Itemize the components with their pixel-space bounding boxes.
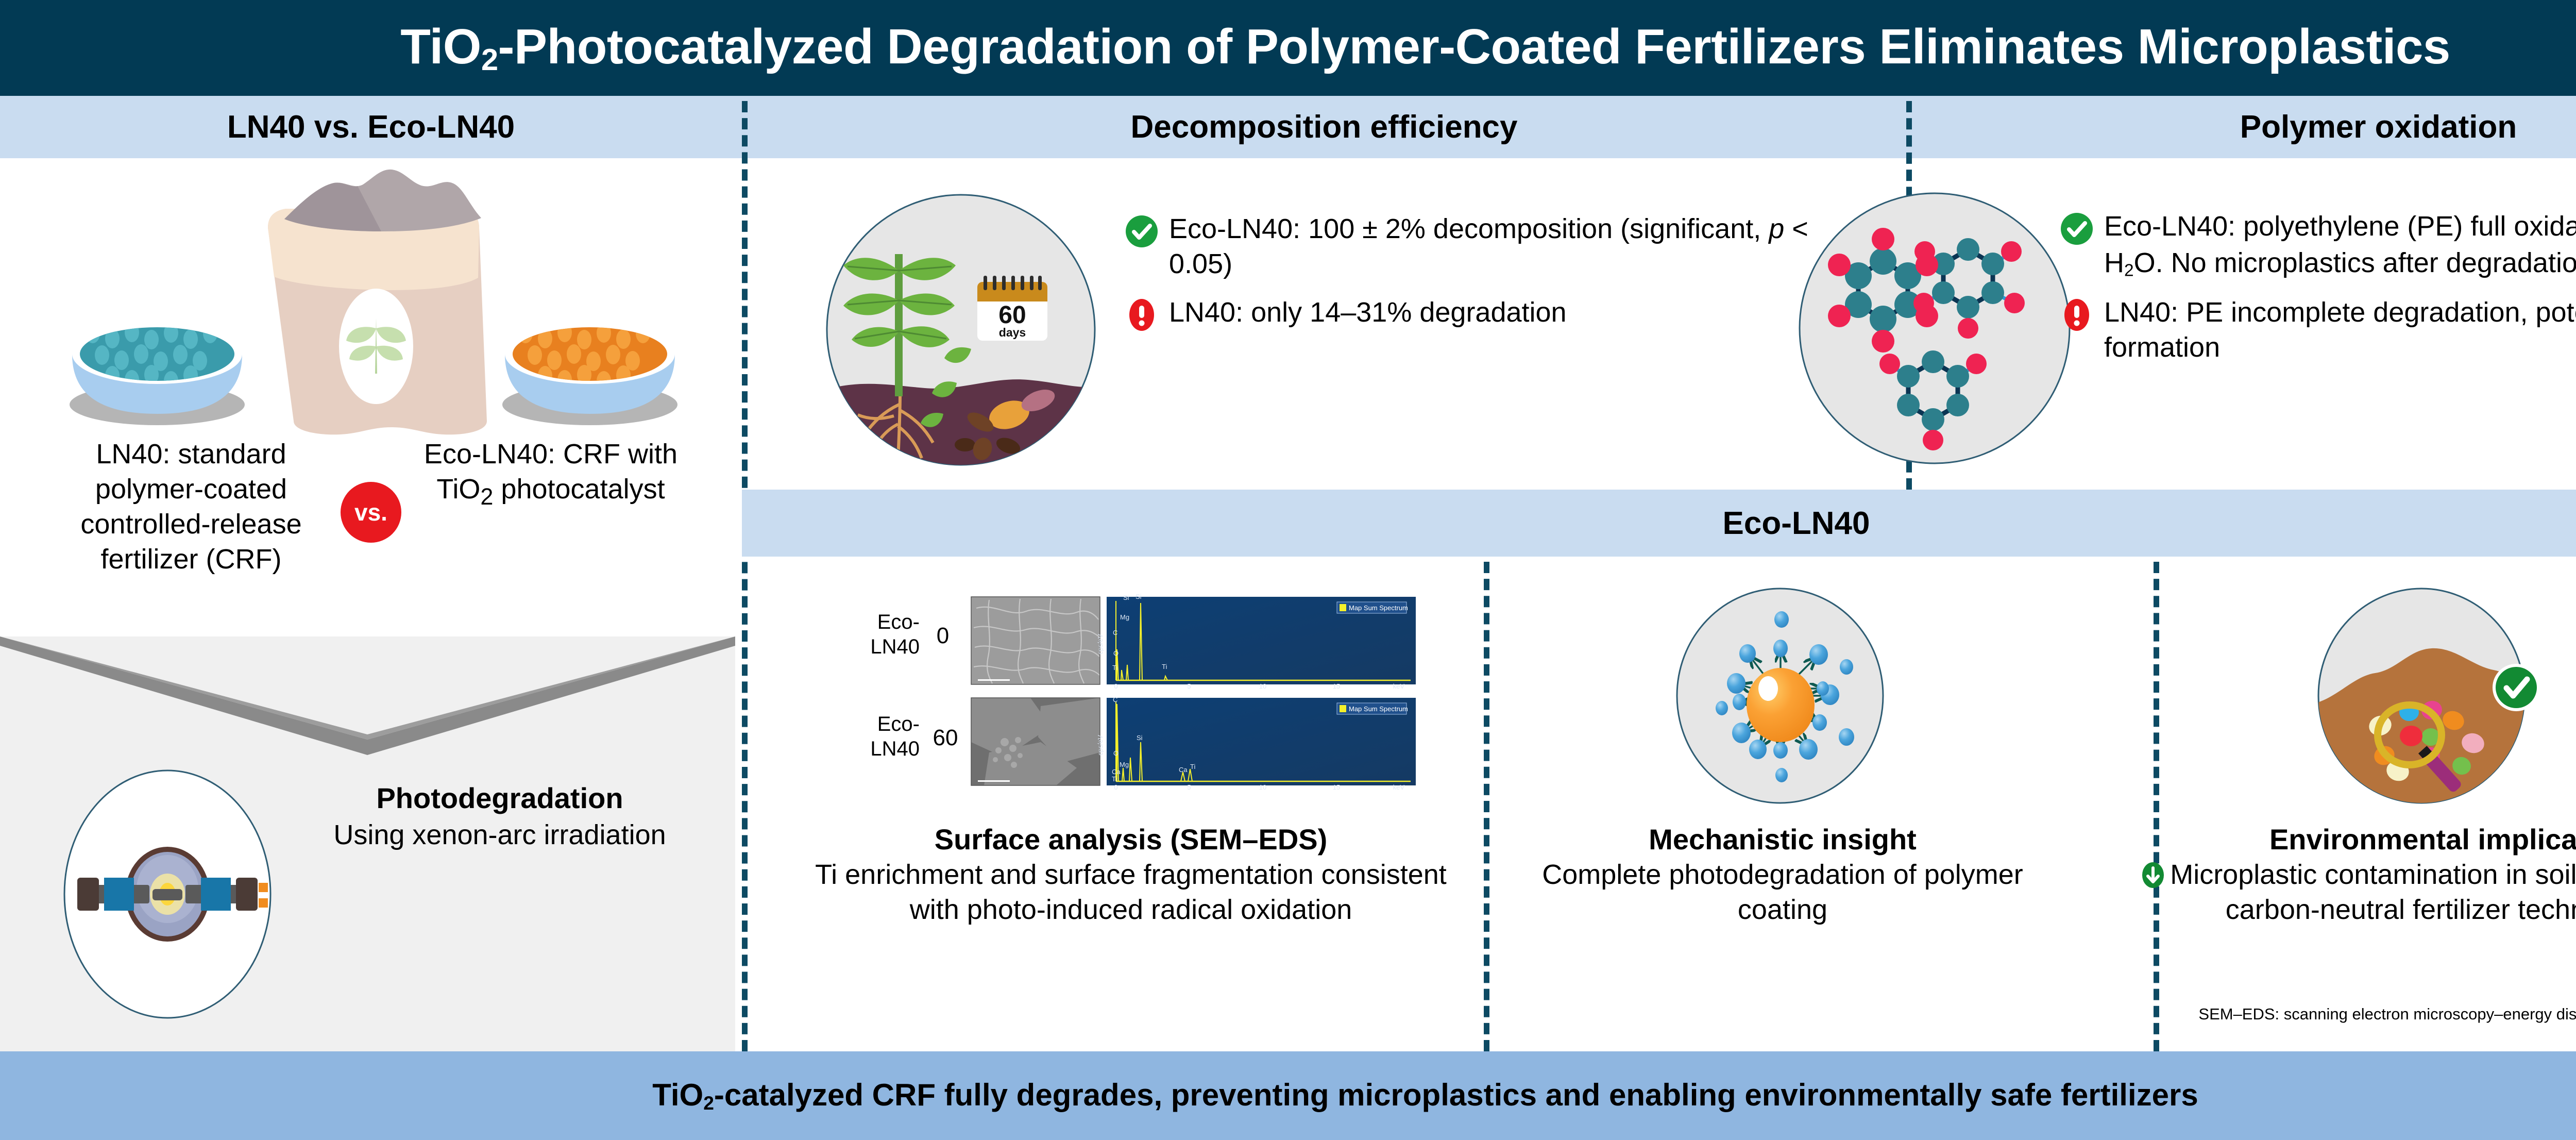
banner-sub: 2 (703, 1092, 714, 1114)
ox-b1-post: O. No microplastics after degradation (2134, 247, 2576, 278)
environmental-caption: Environmental implication Microplastic c… (2107, 822, 2576, 927)
down-arrow-circle-icon (2140, 861, 2166, 887)
svg-text:Si: Si (1123, 594, 1129, 601)
svg-text:cps/eV: cps/eV (1096, 735, 1104, 756)
calendar-icon: 60 days (977, 276, 1047, 341)
bullet-text: Eco-LN40: 100 ± 2% decomposition (signif… (1169, 211, 1862, 281)
svg-text:15: 15 (1333, 682, 1340, 690)
eco-desc-sub: 2 (480, 483, 493, 510)
check-badge-icon (2493, 664, 2540, 711)
svg-text:Ti: Ti (1112, 664, 1117, 672)
svg-text:keV: keV (1393, 682, 1405, 690)
alert-circle-icon (1126, 299, 1158, 331)
svg-text:C: C (1113, 629, 1117, 636)
svg-text:C: C (1113, 696, 1117, 703)
footnote: SEM–EDS: scanning electron microscopy–en… (2107, 1005, 2576, 1024)
svg-text:0: 0 (1114, 682, 1117, 690)
eco-band-label: Eco-LN40 (1723, 505, 1870, 542)
bullet-ln40-decomposition: LN40: only 14–31% degradation (1126, 295, 1862, 331)
header-decomposition-efficiency: Decomposition efficiency (742, 96, 1906, 158)
title-banner: TiO2-Photocatalyzed Degradation of Polym… (0, 0, 2576, 96)
left-column: LN40: standard polymer-coated controlled… (0, 158, 742, 1051)
bullet-eco-oxidation: Eco-LN40: polyethylene (PE) full oxidati… (2061, 209, 2576, 281)
svg-text:Ti: Ti (1162, 663, 1167, 670)
sem-caption-body: Ti enrichment and surface fragmentation … (788, 857, 1473, 927)
svg-text:5: 5 (1187, 682, 1191, 690)
eco-ln40-band: Eco-LN40 (742, 490, 2576, 557)
dec-b1-pre: Eco-LN40: 100 ± 2% decomposition (signif… (1169, 213, 1769, 244)
vs-badge: vs. (341, 482, 401, 543)
svg-text:Map Sum Spectrum: Map Sum Spectrum (1349, 705, 1408, 713)
xenon-lamp-illustration (57, 765, 278, 1023)
chevron-down-icon (0, 636, 735, 755)
svg-text:Ti: Ti (1190, 763, 1195, 770)
banner-post: -catalyzed CRF fully degrades, preventin… (714, 1078, 2198, 1112)
oxidation-bullets: Eco-LN40: polyethylene (PE) full oxidati… (2061, 209, 2576, 378)
divider-left (742, 101, 748, 1051)
title-pre: TiO (400, 19, 481, 74)
eco-desc-post: photocatalyst (493, 474, 665, 505)
alert-circle-icon (2061, 299, 2093, 331)
sem-caption: Surface analysis (SEM–EDS) Ti enrichment… (788, 822, 1473, 927)
svg-text:O: O (1113, 649, 1118, 657)
svg-text:cps/eV: cps/eV (1096, 634, 1104, 655)
bottom-banner: TiO2-catalyzed CRF fully degrades, preve… (0, 1051, 2576, 1140)
mechanistic-caption-title: Mechanistic insight (1494, 822, 2071, 857)
svg-text:60: 60 (998, 301, 1026, 329)
environmental-caption-text: Microplastic contamination in soils and … (2170, 859, 2576, 925)
ox-b1-sub2: 2 (2124, 261, 2134, 280)
decomposition-bullets: Eco-LN40: 100 ± 2% decomposition (signif… (1126, 211, 1862, 344)
svg-text:LN40: LN40 (870, 737, 920, 760)
mechanistic-caption: Mechanistic insight Complete photodegrad… (1494, 822, 2071, 927)
header-ln40-vs-eco: LN40 vs. Eco-LN40 (0, 96, 742, 158)
fertilizer-illustration (52, 163, 696, 442)
decomposition-illustration: 60 days (817, 193, 1136, 466)
graphical-abstract: TiO2-Photocatalyzed Degradation of Polym… (0, 0, 2576, 1140)
svg-text:Mg: Mg (1120, 761, 1129, 768)
svg-text:Si: Si (1136, 593, 1142, 600)
check-circle-icon (1126, 215, 1158, 247)
sem-caption-title: Surface analysis (SEM–EDS) (788, 822, 1473, 857)
title-sub: 2 (481, 42, 498, 77)
mechanistic-illustration (1659, 588, 1901, 804)
svg-text:Ca: Ca (1112, 768, 1121, 776)
svg-text:0: 0 (937, 623, 949, 648)
bottom-banner-text: TiO2-catalyzed CRF fully degrades, preve… (652, 1077, 2198, 1114)
photodegradation-panel: Photodegradation Using xenon-arc irradia… (0, 636, 735, 1051)
svg-text:Si: Si (1137, 734, 1143, 742)
bullet-text: LN40: only 14–31% degradation (1169, 295, 1567, 330)
ln40-description: LN40: standard polymer-coated controlled… (47, 437, 335, 577)
bullet-text: LN40: PE incomplete degradation, potenti… (2104, 295, 2576, 365)
divider-row2-a (1484, 562, 1489, 1051)
check-circle-icon (2061, 213, 2093, 245)
svg-text:Eco-: Eco- (877, 713, 920, 735)
svg-text:60: 60 (933, 725, 958, 750)
eco-ln40-description: Eco-LN40: CRF with TiO2 photocatalyst (406, 437, 695, 512)
bullet-text: Eco-LN40: polyethylene (PE) full oxidati… (2104, 209, 2576, 281)
svg-text:15: 15 (1333, 783, 1340, 791)
header-polymer-oxidation: Polymer oxidation (1906, 96, 2576, 158)
bullet-eco-decomposition: Eco-LN40: 100 ± 2% decomposition (signif… (1126, 211, 1862, 281)
svg-text:days: days (999, 326, 1026, 339)
photodegradation-subtitle: Using xenon-arc irradiation (289, 817, 711, 852)
svg-text:10: 10 (1259, 682, 1266, 690)
environmental-caption-title: Environmental implication (2107, 822, 2576, 857)
svg-text:Mg: Mg (1120, 613, 1129, 621)
mechanistic-caption-body: Complete photodegradation of polymer coa… (1494, 857, 2071, 927)
svg-text:5: 5 (1187, 783, 1191, 791)
ox-b1-pre: Eco-LN40: polyethylene (PE) full oxidati… (2104, 211, 2576, 242)
title-post: -Photocatalyzed Degradation of Polymer-C… (498, 19, 2450, 74)
svg-text:Ti: Ti (1112, 775, 1117, 783)
environmental-illustration (2308, 588, 2555, 804)
svg-text:Map Sum Spectrum: Map Sum Spectrum (1349, 604, 1408, 612)
divider-row2-b (2154, 562, 2159, 1051)
bullet-ln40-oxidation: LN40: PE incomplete degradation, potenti… (2061, 295, 2576, 365)
page-title: TiO2-Photocatalyzed Degradation of Polym… (400, 19, 2450, 77)
svg-text:Ca: Ca (1179, 766, 1188, 774)
svg-text:O: O (1113, 749, 1118, 757)
polymer-oxidation-illustration (1798, 192, 2071, 465)
svg-text:keV: keV (1393, 783, 1405, 791)
svg-text:LN40: LN40 (870, 635, 920, 658)
comparison-labels: LN40: standard polymer-coated controlled… (0, 437, 742, 632)
svg-text:10: 10 (1259, 783, 1266, 791)
sem-eds-panel: Eco- LN40 0 Eco- LN40 60 (835, 588, 1463, 794)
svg-text:0: 0 (1114, 783, 1117, 791)
svg-text:Eco-: Eco- (877, 611, 920, 633)
dec-b1-italic: p (1769, 213, 1784, 244)
photodegradation-title: Photodegradation (289, 781, 711, 815)
photodegradation-caption: Photodegradation Using xenon-arc irradia… (289, 781, 711, 852)
banner-pre: TiO (652, 1078, 703, 1112)
environmental-caption-body: Microplastic contamination in soils and … (2107, 857, 2576, 927)
